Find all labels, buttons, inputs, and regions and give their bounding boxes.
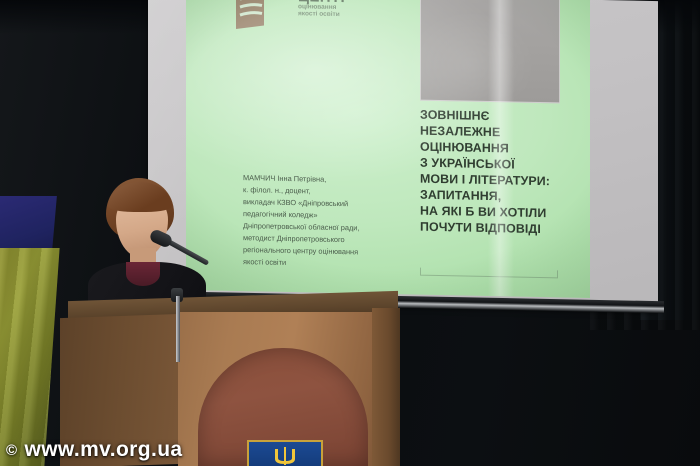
open-book-icon (234, 0, 296, 32)
projected-slide: Дніпропетровський регіональний ЦЕНТР оці… (186, 0, 590, 298)
ukraine-coat-of-arms (247, 440, 323, 466)
slide-author-credits: МАМЧИЧ Інна Петрівна, к. філол. н., доце… (243, 172, 421, 271)
logo-line-5: якості освіти (298, 11, 376, 19)
microphone-stand (176, 296, 180, 362)
speaker-collar (126, 262, 160, 286)
projector-light-band (488, 0, 514, 297)
organization-logo: Дніпропетровський регіональний ЦЕНТР оці… (234, 0, 374, 40)
watermark-url: www.mv.org.ua (24, 438, 182, 462)
logo-text-block: Дніпропетровський регіональний ЦЕНТР оці… (298, 0, 376, 19)
trident-icon (261, 445, 309, 466)
author-line-8: якості освіти (243, 256, 421, 272)
presentation-photo: Дніпропетровський регіональний ЦЕНТР оці… (0, 0, 700, 466)
watermark: © www.mv.org.ua (6, 438, 183, 462)
podium-right-edge (372, 308, 400, 466)
copyright-icon: © (6, 442, 17, 459)
